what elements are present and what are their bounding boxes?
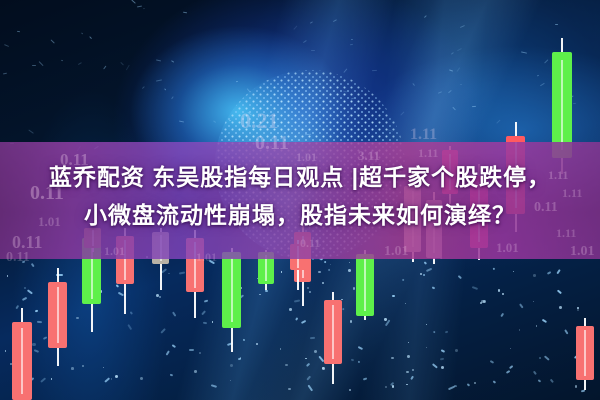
headline-line-2: 小微盘流动性崩塌，股指未来如何演绎？ <box>0 196 600 234</box>
floating-number: 0.11 <box>255 132 289 155</box>
headline-line-1: 蓝乔配资 东吴股指每日观点 |超千家个股跌停， <box>0 158 600 196</box>
floating-number: 0.11 <box>6 250 30 266</box>
floating-number: 1.01 <box>384 244 409 260</box>
floating-number: 1.01 <box>196 250 217 265</box>
floating-number: 1.01 <box>496 240 519 256</box>
floating-number: 1.01 <box>570 244 595 260</box>
headline-text: 蓝乔配资 东吴股指每日观点 |超千家个股跌停， 小微盘流动性崩塌，股指未来如何演… <box>0 158 600 234</box>
floating-number: 0.11 <box>12 232 43 253</box>
floating-number: 0.11 <box>300 236 320 251</box>
floating-number: 0.21 <box>240 108 279 134</box>
floating-number: 1.11 <box>410 126 437 144</box>
floating-number: 1.01 <box>104 244 125 259</box>
banner-image: 0.110.111.010.110.110.210.111.013.111.11… <box>0 0 600 400</box>
